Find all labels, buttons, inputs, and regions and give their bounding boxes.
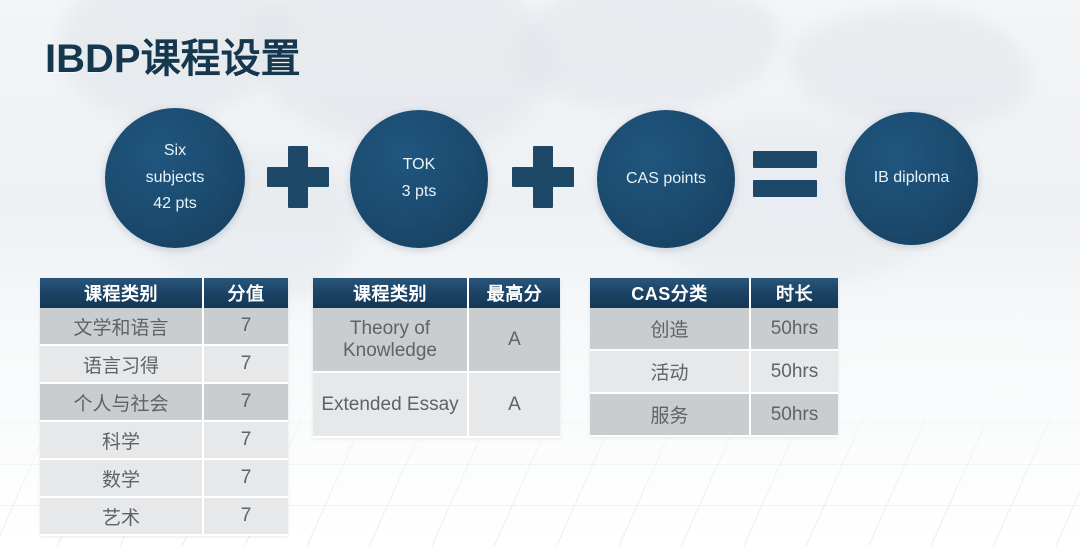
circle-line: CAS points — [626, 171, 706, 188]
column-header-duration: 时长 — [750, 278, 838, 308]
cell-cas-category: 创造 — [590, 308, 750, 350]
cell-score: 7 — [203, 345, 288, 383]
table-cas: CAS分类 时长 创造 50hrs 活动 50hrs 服务 50hrs — [590, 278, 838, 437]
table-row: 文学和语言 7 — [40, 308, 288, 345]
cell-category: 数学 — [40, 459, 203, 497]
table-row: 艺术 7 — [40, 497, 288, 535]
table-row: Extended Essay A — [313, 372, 560, 437]
cell-duration: 50hrs — [750, 308, 838, 350]
column-header-category: 课程类别 — [40, 278, 203, 308]
table-row: 创造 50hrs — [590, 308, 838, 350]
column-header-cas-category: CAS分类 — [590, 278, 750, 308]
table-row: 活动 50hrs — [590, 350, 838, 393]
table-row: 个人与社会 7 — [40, 383, 288, 421]
plus-icon — [512, 146, 574, 208]
circle-tok: TOK 3 pts — [350, 110, 488, 248]
circle-line: 3 pts — [402, 184, 437, 201]
cell-category: 语言习得 — [40, 345, 203, 383]
circle-line: subjects — [146, 170, 205, 187]
table-header-row: 课程类别 分值 — [40, 278, 288, 308]
cell-score: 7 — [203, 421, 288, 459]
cell-duration: 50hrs — [750, 350, 838, 393]
cell-score: 7 — [203, 459, 288, 497]
table-row: 科学 7 — [40, 421, 288, 459]
column-header-category: 课程类别 — [313, 278, 468, 308]
cell-category: Extended Essay — [313, 372, 468, 437]
cell-score: 7 — [203, 308, 288, 345]
plus-icon — [267, 146, 329, 208]
table-row: Theory of Knowledge A — [313, 308, 560, 372]
world-map-watermark — [520, 0, 780, 110]
cell-max-grade: A — [468, 308, 560, 372]
table-row: 数学 7 — [40, 459, 288, 497]
equals-icon — [753, 149, 817, 199]
page-title: IBDP课程设置 — [45, 26, 301, 84]
circle-six-subjects: Six subjects 42 pts — [105, 108, 245, 248]
circle-line: IB diploma — [874, 170, 950, 187]
table-subjects: 课程类别 分值 文学和语言 7 语言习得 7 个人与社会 7 科学 7 数学 — [40, 278, 288, 536]
table-header-row: CAS分类 时长 — [590, 278, 838, 308]
cell-score: 7 — [203, 383, 288, 421]
cell-category: Theory of Knowledge — [313, 308, 468, 372]
circle-cas-points: CAS points — [597, 110, 735, 248]
cell-duration: 50hrs — [750, 393, 838, 436]
cell-category: 个人与社会 — [40, 383, 203, 421]
cell-cas-category: 活动 — [590, 350, 750, 393]
cell-category: 文学和语言 — [40, 308, 203, 345]
cell-category: 科学 — [40, 421, 203, 459]
cell-max-grade: A — [468, 372, 560, 437]
column-header-max-grade: 最高分 — [468, 278, 560, 308]
cell-score: 7 — [203, 497, 288, 535]
table-core-components: 课程类别 最高分 Theory of Knowledge A Extended … — [313, 278, 560, 438]
table-row: 语言习得 7 — [40, 345, 288, 383]
table-row: 服务 50hrs — [590, 393, 838, 436]
table-header-row: 课程类别 最高分 — [313, 278, 560, 308]
circle-line: 42 pts — [153, 196, 197, 213]
cell-cas-category: 服务 — [590, 393, 750, 436]
slide-canvas: IBDP课程设置 Six subjects 42 pts TOK 3 pts C… — [0, 0, 1080, 546]
column-header-score: 分值 — [203, 278, 288, 308]
cell-category: 艺术 — [40, 497, 203, 535]
circle-line: TOK — [403, 157, 436, 174]
circle-line: Six — [164, 143, 186, 160]
circle-ib-diploma: IB diploma — [845, 112, 978, 245]
